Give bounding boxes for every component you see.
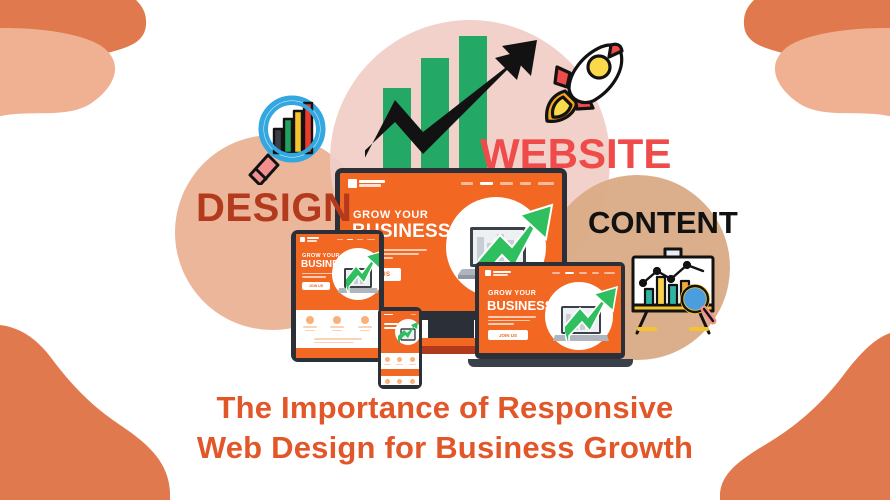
phone-screen xyxy=(381,311,419,385)
feature-item xyxy=(385,379,390,384)
feature-label xyxy=(330,326,344,328)
label-website: WEBSITE xyxy=(480,130,671,178)
laptop-base xyxy=(468,359,633,367)
device-laptop: GROW YOUR BUSINESS JOIN US xyxy=(468,262,633,370)
mockup-nav-items[interactable] xyxy=(337,239,375,241)
logo-mark-icon xyxy=(300,237,305,242)
nav-item-news[interactable] xyxy=(347,239,353,241)
presentation-board-chart-icon xyxy=(625,245,721,335)
logo-wordmark xyxy=(307,237,319,241)
logo-line-concept xyxy=(359,184,381,187)
device-tablet: GROW YOUR BUSINESS JOIN US xyxy=(291,230,384,362)
mockup-logo xyxy=(348,179,385,188)
feature-item xyxy=(358,316,372,331)
mockup-footer-band xyxy=(296,348,379,358)
nav-item-about[interactable] xyxy=(357,239,363,241)
mockup-feature-row-secondary xyxy=(381,379,419,384)
nav-item-contact[interactable] xyxy=(367,239,375,241)
top-right-blob xyxy=(736,0,890,120)
feature-item xyxy=(397,379,402,384)
mockup-navbar xyxy=(296,234,379,245)
mockup-feature-row xyxy=(381,357,419,365)
nav-item-blog[interactable] xyxy=(592,272,599,274)
mockup-hamburger-icon[interactable] xyxy=(411,314,416,315)
mockup-secondary-copy xyxy=(314,338,362,345)
nav-item-home[interactable] xyxy=(552,272,560,274)
feature-icon xyxy=(333,316,341,324)
mockup-green-arrow-icon xyxy=(398,321,419,347)
feature-icon xyxy=(385,379,390,384)
feature-item xyxy=(303,316,317,331)
nav-item-contact[interactable] xyxy=(604,272,615,274)
nav-item-home[interactable] xyxy=(461,182,473,185)
feature-label xyxy=(409,364,416,365)
tablet-bezel: GROW YOUR BUSINESS JOIN US xyxy=(291,230,384,362)
mockup-logo xyxy=(300,237,319,242)
mockup-cta-button[interactable]: JOIN US xyxy=(488,330,528,340)
phone-bezel xyxy=(378,307,422,389)
mockup-divider-band xyxy=(381,369,419,376)
mockup-green-arrow-icon xyxy=(565,286,619,350)
device-smartphone xyxy=(378,307,422,389)
logo-line-website xyxy=(384,314,393,315)
mockup-feature-row xyxy=(296,316,379,331)
feature-item xyxy=(396,357,403,365)
logo-line-website xyxy=(307,237,319,239)
website-mockup-tablet-hero: GROW YOUR BUSINESS JOIN US xyxy=(296,234,379,310)
mockup-cta-button[interactable]: JOIN US xyxy=(302,282,330,290)
magnifier-bar-chart-icon xyxy=(234,93,330,185)
feature-item xyxy=(330,316,344,331)
feature-icon xyxy=(361,316,369,324)
laptop-bezel: GROW YOUR BUSINESS JOIN US xyxy=(475,262,625,359)
mockup-nav-items[interactable] xyxy=(461,182,554,185)
feature-item xyxy=(384,357,391,365)
mockup-heading-big: BUSINESS xyxy=(487,298,553,313)
nav-item-news[interactable] xyxy=(565,272,574,274)
mockup-green-arrow-icon xyxy=(346,250,379,298)
feature-icon xyxy=(385,357,390,362)
tablet-screen: GROW YOUR BUSINESS JOIN US xyxy=(296,234,379,358)
mockup-heading-small: GROW YOUR xyxy=(353,209,428,221)
mockup-navbar xyxy=(381,311,419,318)
feature-icon xyxy=(410,357,415,362)
feature-item xyxy=(409,357,416,365)
mockup-body-copy xyxy=(302,273,332,280)
nav-item-about[interactable] xyxy=(500,182,513,185)
feature-sublabel xyxy=(305,330,315,332)
feature-label xyxy=(384,364,391,365)
feature-item xyxy=(410,379,415,384)
nav-item-about[interactable] xyxy=(579,272,587,274)
logo-wordmark xyxy=(359,180,385,187)
nav-item-blog[interactable] xyxy=(520,182,531,185)
feature-label xyxy=(303,326,317,328)
logo-wordmark xyxy=(493,271,511,276)
feature-label xyxy=(358,326,372,328)
feature-icon xyxy=(306,316,314,324)
logo-line-website xyxy=(493,271,511,273)
logo-line-concept xyxy=(307,240,317,242)
feature-icon xyxy=(397,357,402,362)
nav-item-news[interactable] xyxy=(480,182,493,185)
mockup-body-copy xyxy=(488,316,536,327)
feature-icon xyxy=(397,379,402,384)
logo-mark-icon xyxy=(485,270,491,276)
top-left-blob xyxy=(0,0,154,120)
logo-line-concept xyxy=(493,274,508,276)
title-line-1: The Importance of Responsive xyxy=(0,388,890,428)
laptop-screen: GROW YOUR BUSINESS JOIN US xyxy=(479,266,621,353)
label-design: DESIGN xyxy=(196,186,352,231)
mockup-heading-small: GROW YOUR xyxy=(488,290,536,297)
feature-sublabel xyxy=(360,330,370,332)
website-mockup-phone-hero xyxy=(381,311,419,353)
mockup-nav-items[interactable] xyxy=(552,272,615,274)
mockup-logo xyxy=(485,270,511,276)
label-content: CONTENT xyxy=(588,205,738,241)
title-line-2: Web Design for Business Growth xyxy=(0,428,890,468)
page-title: The Importance of Responsive Web Design … xyxy=(0,388,890,467)
rocket-icon xyxy=(535,33,630,128)
feature-icon xyxy=(410,379,415,384)
nav-item-home[interactable] xyxy=(337,239,343,241)
mockup-navbar xyxy=(479,266,621,280)
nav-item-contact[interactable] xyxy=(538,182,554,185)
feature-label xyxy=(396,364,403,365)
website-mockup-laptop: GROW YOUR BUSINESS JOIN US xyxy=(479,266,621,353)
banner-canvas: GROW YOUR BUSINESS JOIN US xyxy=(0,0,890,500)
logo-line-website xyxy=(359,180,385,183)
feature-sublabel xyxy=(332,330,342,332)
